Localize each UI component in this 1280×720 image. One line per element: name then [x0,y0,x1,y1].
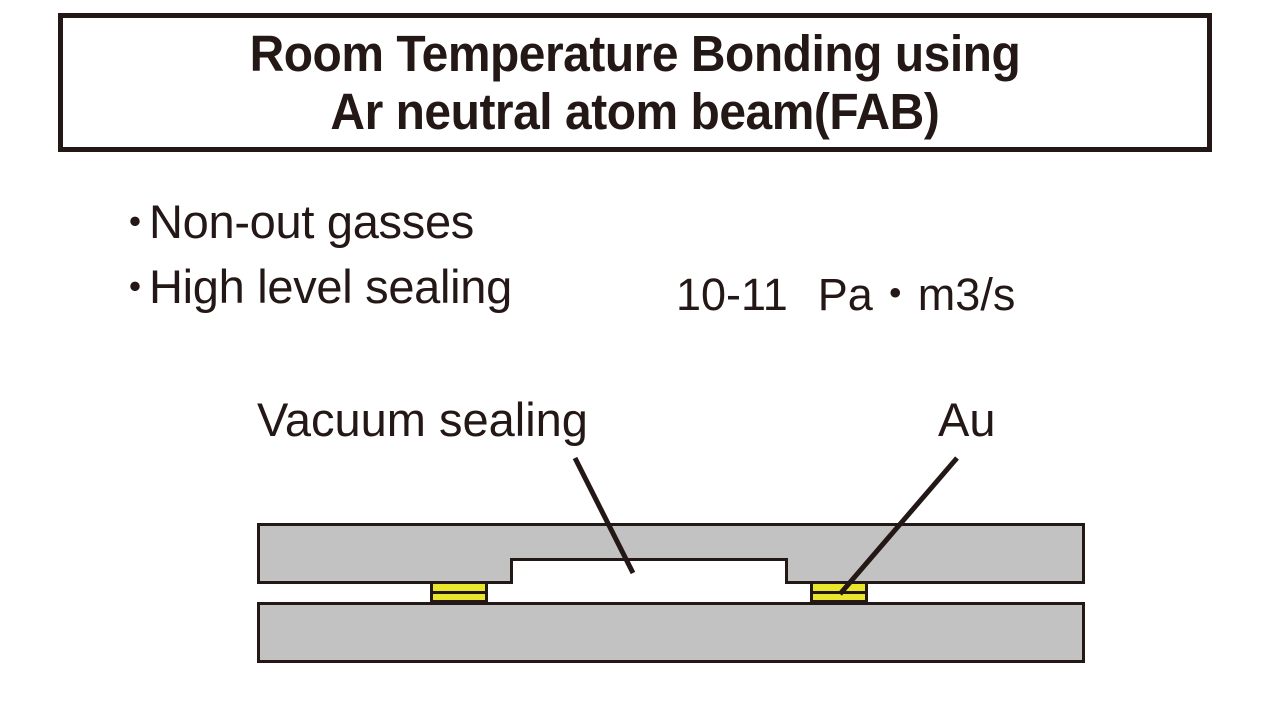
bottom-substrate [257,602,1085,663]
bonding-cross-section-diagram: Vacuum sealing Au [0,0,1280,720]
vacuum-cavity [510,558,788,584]
au-bond-pad-left [430,581,488,603]
au-bond-pad-right [810,581,868,603]
diagram-label-vacuum-sealing: Vacuum sealing [257,396,588,443]
diagram-label-au: Au [938,396,996,443]
